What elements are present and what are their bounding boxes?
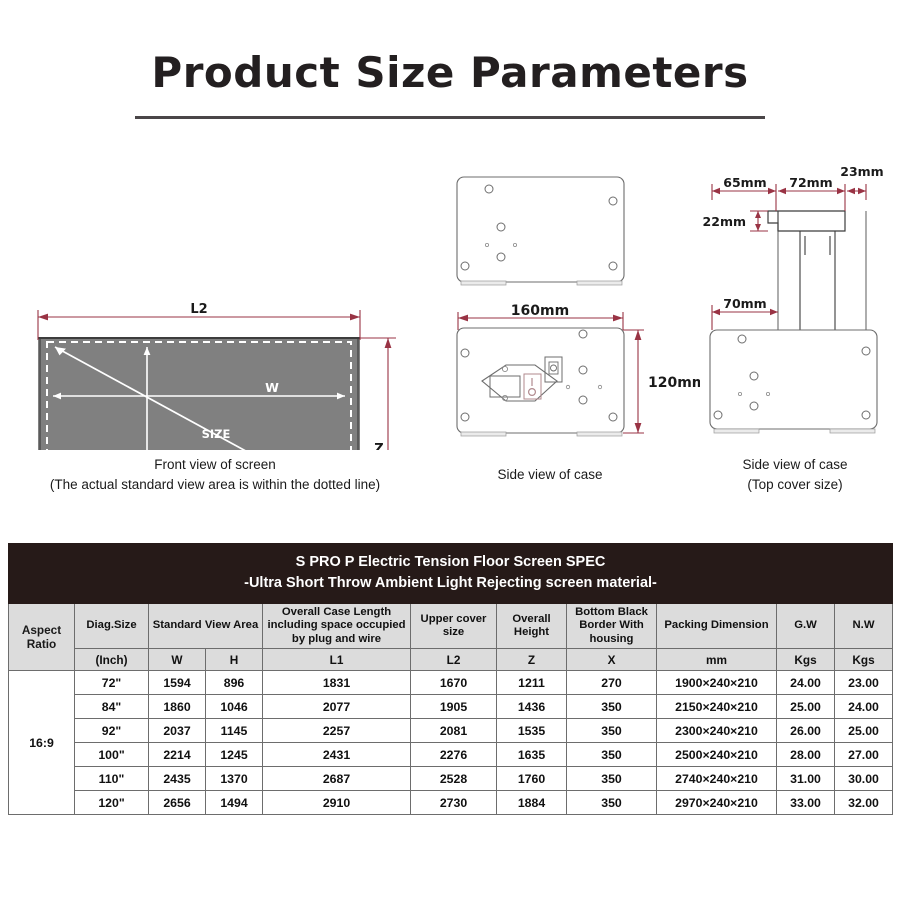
subheader-x: X xyxy=(567,649,657,671)
dimension-Z xyxy=(360,338,396,450)
subheader-l2: L2 xyxy=(411,649,497,671)
table-row: 120" 2656 1494 2910 2730 1884 350 2970×2… xyxy=(9,791,893,815)
front-view-diagram: W H SIZE xyxy=(0,150,420,450)
caption-front-view-line1: Front view of screen xyxy=(10,455,420,475)
cell-nw: 27.00 xyxy=(835,743,893,767)
side-view-case-diagram: 160mm 120mm xyxy=(420,150,700,450)
cell-x: 350 xyxy=(567,719,657,743)
cell-gw: 33.00 xyxy=(777,791,835,815)
cell-l1: 2431 xyxy=(263,743,411,767)
diagram-section: W H SIZE xyxy=(0,0,900,520)
cell-x: 350 xyxy=(567,743,657,767)
cell-w: 2214 xyxy=(149,743,206,767)
label-65mm: 65mm xyxy=(723,175,766,190)
case-upper-plate xyxy=(457,177,624,285)
header-gw: G.W xyxy=(777,604,835,649)
cell-l1: 2077 xyxy=(263,695,411,719)
header-aspect-ratio: Aspect Ratio xyxy=(9,604,75,671)
case-lower-plate xyxy=(457,328,624,436)
label-Z: Z xyxy=(374,442,383,450)
cell-z: 1760 xyxy=(497,767,567,791)
cell-nw: 24.00 xyxy=(835,695,893,719)
table-row: 84" 1860 1046 2077 1905 1436 350 2150×24… xyxy=(9,695,893,719)
label-72mm: 72mm xyxy=(789,175,832,190)
cell-diag: 72" xyxy=(75,671,149,695)
cell-packing: 2500×240×210 xyxy=(657,743,777,767)
cell-l1: 2910 xyxy=(263,791,411,815)
label-160mm: 160mm xyxy=(511,303,569,319)
cell-l1: 1831 xyxy=(263,671,411,695)
header-diag-size: Diag.Size xyxy=(75,604,149,649)
cell-l2: 1905 xyxy=(411,695,497,719)
cell-x: 270 xyxy=(567,671,657,695)
cell-l2: 2528 xyxy=(411,767,497,791)
cell-diag: 84" xyxy=(75,695,149,719)
cell-w: 2656 xyxy=(149,791,206,815)
cell-l2: 2276 xyxy=(411,743,497,767)
header-packing-dimension: Packing Dimension xyxy=(657,604,777,649)
cell-w: 2037 xyxy=(149,719,206,743)
subheader-packing-unit: mm xyxy=(657,649,777,671)
label-view-width: W xyxy=(265,380,279,395)
cell-h: 896 xyxy=(206,671,263,695)
cell-nw: 23.00 xyxy=(835,671,893,695)
cell-nw: 32.00 xyxy=(835,791,893,815)
caption-front-view-line2: (The actual standard view area is within… xyxy=(10,475,420,495)
cell-packing: 1900×240×210 xyxy=(657,671,777,695)
dimension-120mm xyxy=(623,330,644,433)
cover-base-plate xyxy=(710,330,877,433)
table-row: 92" 2037 1145 2257 2081 1535 350 2300×24… xyxy=(9,719,893,743)
table-row: 100" 2214 1245 2431 2276 1635 350 2500×2… xyxy=(9,743,893,767)
cell-gw: 31.00 xyxy=(777,767,835,791)
table-title-line2: -Ultra Short Throw Ambient Light Rejecti… xyxy=(13,573,888,594)
cell-x: 350 xyxy=(567,695,657,719)
label-23mm: 23mm xyxy=(840,164,883,179)
cell-packing: 2150×240×210 xyxy=(657,695,777,719)
header-overall-height: Overall Height xyxy=(497,604,567,649)
top-cover-shape xyxy=(768,211,845,231)
subheader-view-h: H xyxy=(206,649,263,671)
subheader-l1: L1 xyxy=(263,649,411,671)
cell-z: 1535 xyxy=(497,719,567,743)
cell-x: 350 xyxy=(567,791,657,815)
subheader-nw-unit: Kgs xyxy=(835,649,893,671)
cell-x: 350 xyxy=(567,767,657,791)
cell-w: 1594 xyxy=(149,671,206,695)
label-70mm: 70mm xyxy=(723,296,766,311)
table-row: 16:9 72" 1594 896 1831 1670 1211 270 190… xyxy=(9,671,893,695)
label-L2: L2 xyxy=(190,302,207,317)
cell-packing: 2300×240×210 xyxy=(657,719,777,743)
header-upper-cover-size: Upper cover size xyxy=(411,604,497,649)
cell-packing: 2970×240×210 xyxy=(657,791,777,815)
cell-diag: 92" xyxy=(75,719,149,743)
cell-z: 1211 xyxy=(497,671,567,695)
cell-aspect-ratio-value: 16:9 xyxy=(9,671,75,815)
cell-l1: 2257 xyxy=(263,719,411,743)
caption-top-cover-view: Side view of case (Top cover size) xyxy=(690,455,900,494)
table-title-cell: S PRO P Electric Tension Floor Screen SP… xyxy=(9,544,893,604)
caption-top-cover-line2: (Top cover size) xyxy=(690,475,900,495)
table-header-row-main: Aspect Ratio Diag.Size Standard View Are… xyxy=(9,604,893,649)
cell-z: 1436 xyxy=(497,695,567,719)
cell-w: 2435 xyxy=(149,767,206,791)
subheader-z: Z xyxy=(497,649,567,671)
cell-l1: 2687 xyxy=(263,767,411,791)
cell-gw: 28.00 xyxy=(777,743,835,767)
caption-front-view: Front view of screen (The actual standar… xyxy=(10,455,420,494)
cell-gw: 26.00 xyxy=(777,719,835,743)
side-view-top-cover-diagram: 65mm 72mm 23mm 22mm xyxy=(690,150,900,450)
header-standard-view-area: Standard View Area xyxy=(149,604,263,649)
cell-h: 1370 xyxy=(206,767,263,791)
table-title-line1: S PRO P Electric Tension Floor Screen SP… xyxy=(13,552,888,573)
cell-w: 1860 xyxy=(149,695,206,719)
caption-side-view-line1: Side view of case xyxy=(430,465,670,485)
spec-table: S PRO P Electric Tension Floor Screen SP… xyxy=(8,543,893,815)
subheader-view-w: W xyxy=(149,649,206,671)
cell-nw: 25.00 xyxy=(835,719,893,743)
subheader-diag-size: (Inch) xyxy=(75,649,149,671)
cell-gw: 25.00 xyxy=(777,695,835,719)
caption-top-cover-line1: Side view of case xyxy=(690,455,900,475)
cell-nw: 30.00 xyxy=(835,767,893,791)
table-title-row: S PRO P Electric Tension Floor Screen SP… xyxy=(9,544,893,604)
header-overall-case-length: Overall Case Length including space occu… xyxy=(263,604,411,649)
cell-h: 1046 xyxy=(206,695,263,719)
table-header-row-sub: (Inch) W H L1 L2 Z X mm Kgs Kgs xyxy=(9,649,893,671)
cell-packing: 2740×240×210 xyxy=(657,767,777,791)
subheader-gw-unit: Kgs xyxy=(777,649,835,671)
cover-mast xyxy=(800,231,835,330)
table-row: 110" 2435 1370 2687 2528 1760 350 2740×2… xyxy=(9,767,893,791)
label-diagonal-size: SIZE xyxy=(202,427,231,441)
cell-h: 1245 xyxy=(206,743,263,767)
header-nw: N.W xyxy=(835,604,893,649)
label-22mm: 22mm xyxy=(703,214,746,229)
cell-gw: 24.00 xyxy=(777,671,835,695)
cell-h: 1145 xyxy=(206,719,263,743)
caption-side-view: Side view of case xyxy=(430,465,670,485)
cell-l2: 2081 xyxy=(411,719,497,743)
header-bottom-black-border: Bottom Black Border With housing xyxy=(567,604,657,649)
cell-l2: 1670 xyxy=(411,671,497,695)
cell-l2: 2730 xyxy=(411,791,497,815)
cell-diag: 100" xyxy=(75,743,149,767)
cell-z: 1635 xyxy=(497,743,567,767)
cell-diag: 110" xyxy=(75,767,149,791)
cell-diag: 120" xyxy=(75,791,149,815)
cell-z: 1884 xyxy=(497,791,567,815)
cell-h: 1494 xyxy=(206,791,263,815)
